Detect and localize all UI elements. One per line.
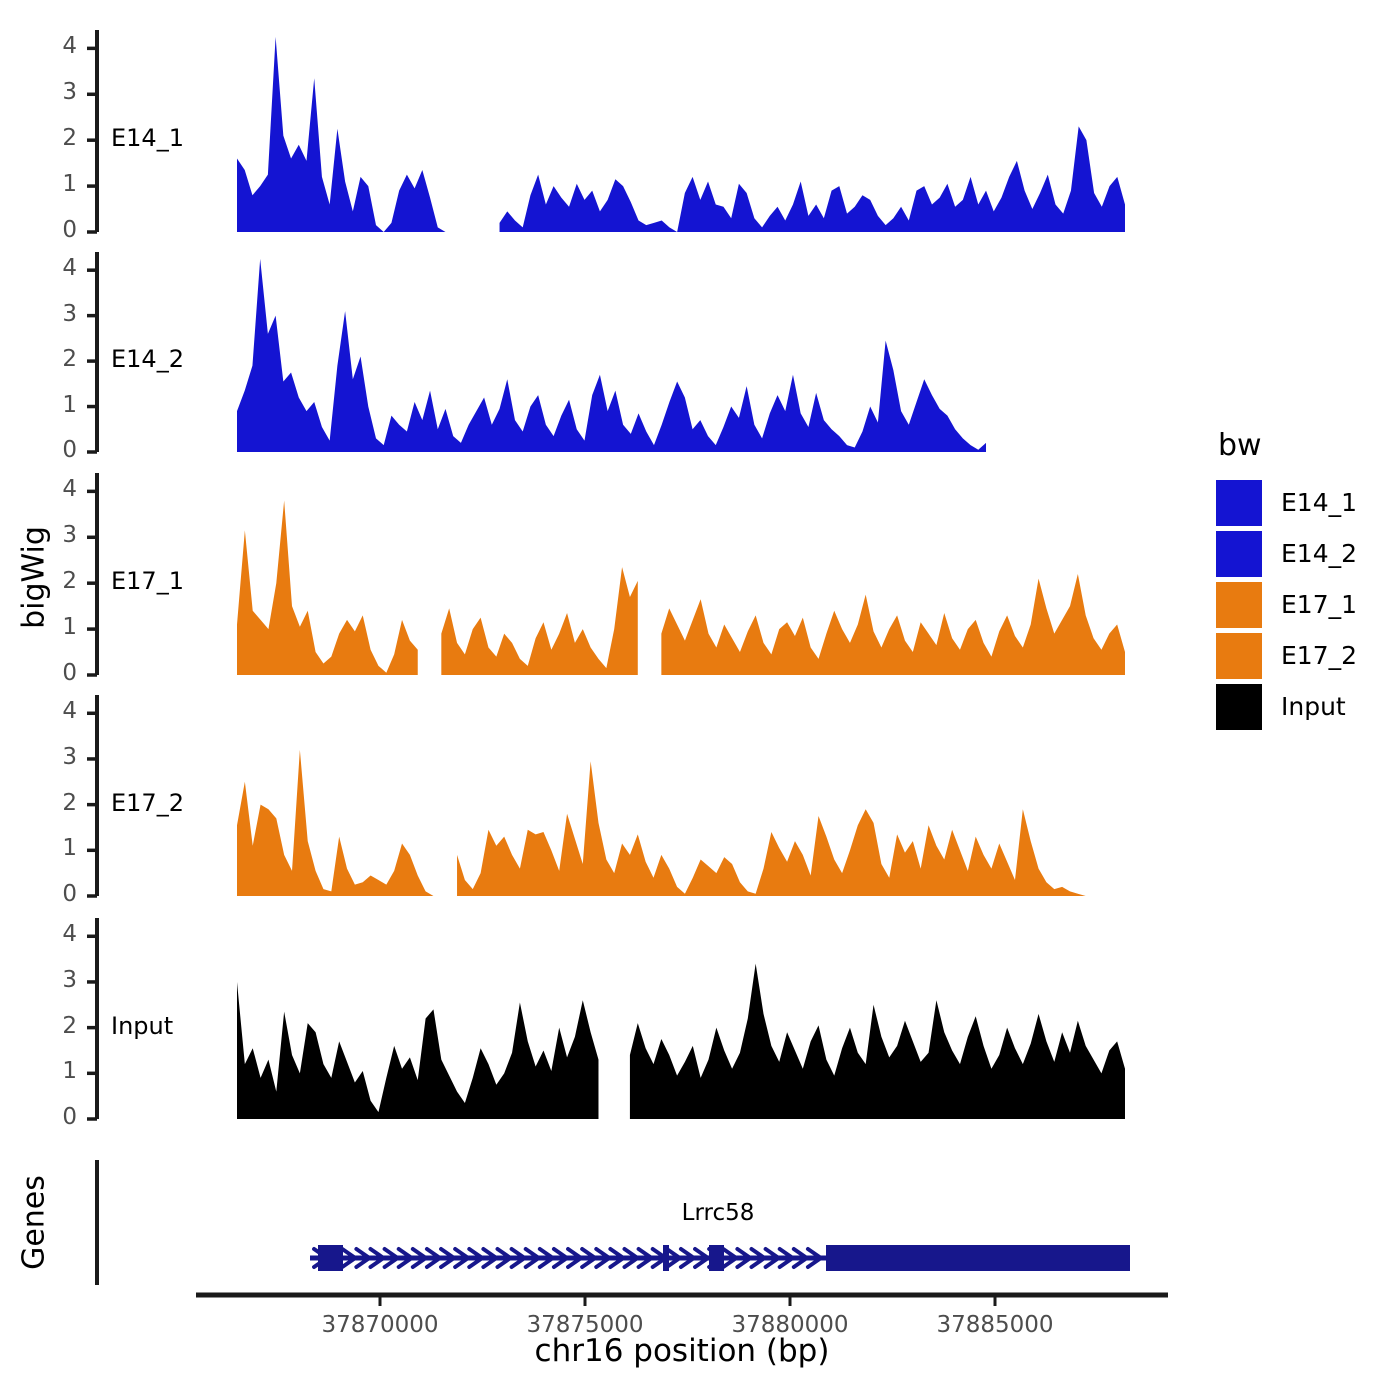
gene-exon-3 (709, 1245, 724, 1271)
gene-name-label: Lrrc58 (658, 1200, 778, 1226)
bigwig-area-E17_1 (661, 574, 1125, 675)
y-tick-label: 2 (25, 1013, 77, 1039)
genome-browser-plot: bigWig Genes 0123401234012340123401234 E… (0, 0, 1400, 1400)
y-tick-label: 4 (25, 33, 77, 59)
gene-exon-2 (663, 1245, 669, 1271)
y-tick-label: 0 (25, 437, 77, 463)
bigwig-area-Input (630, 964, 1125, 1119)
y-tick-label: 3 (25, 522, 77, 548)
track-label-E14_2: E14_2 (111, 345, 184, 373)
legend-title: bw (1218, 428, 1357, 463)
bigwig-area-E17_2 (237, 750, 433, 896)
legend-item-group: E14_1E14_2E17_1E17_2Input (1216, 477, 1357, 732)
y-tick-label: 3 (25, 967, 77, 993)
bigwig-track-group (237, 37, 1125, 1119)
y-tick-label: 0 (25, 660, 77, 686)
track-label-E17_2: E17_2 (111, 789, 184, 817)
legend-item-Input[interactable]: Input (1216, 681, 1357, 732)
y-tick-label: 1 (25, 614, 77, 640)
legend-item-E14_2[interactable]: E14_2 (1216, 528, 1357, 579)
legend-swatch-E14_1 (1216, 480, 1262, 526)
legend-swatch-E14_2 (1216, 531, 1262, 577)
y-tick-label: 3 (25, 301, 77, 327)
y-tick-label: 0 (25, 881, 77, 907)
legend-item-E17_2[interactable]: E17_2 (1216, 630, 1357, 681)
legend-swatch-E17_2 (1216, 633, 1262, 679)
bigwig-area-E17_1 (441, 567, 637, 675)
y-tick-label: 1 (25, 171, 77, 197)
legend-label: Input (1281, 692, 1346, 721)
plot-canvas (0, 0, 1400, 1400)
gene-exon-4 (826, 1245, 1130, 1271)
gene-model-group (310, 1245, 1130, 1271)
bigwig-area-E14_1 (237, 37, 469, 232)
y-tick-label: 4 (25, 255, 77, 281)
y-tick-label: 4 (25, 698, 77, 724)
legend-swatch-Input (1216, 684, 1262, 730)
y-tick-label: 2 (25, 790, 77, 816)
legend-label: E17_2 (1281, 641, 1357, 670)
legend-swatch-E17_1 (1216, 582, 1262, 628)
y-tick-label: 1 (25, 835, 77, 861)
legend-label: E14_1 (1281, 488, 1357, 517)
y-tick-label: 1 (25, 1058, 77, 1084)
bigwig-area-E14_2 (237, 259, 986, 452)
y-tick-label: 0 (25, 217, 77, 243)
legend: bw E14_1E14_2E17_1E17_2Input (1216, 428, 1357, 732)
bigwig-area-E17_2 (457, 761, 1125, 896)
gene-exon-1 (318, 1245, 343, 1271)
track-label-E14_1: E14_1 (111, 124, 184, 152)
x-axis-title: chr16 position (bp) (196, 1333, 1168, 1369)
y-tick-label: 2 (25, 568, 77, 594)
y-tick-label: 4 (25, 921, 77, 947)
y-tick-label: 3 (25, 79, 77, 105)
y-tick-label: 2 (25, 125, 77, 151)
legend-label: E17_1 (1281, 590, 1357, 619)
y-tick-label: 3 (25, 744, 77, 770)
track-label-Input: Input (111, 1012, 173, 1040)
y-tick-label: 1 (25, 392, 77, 418)
y-tick-label: 4 (25, 476, 77, 502)
bigwig-area-E17_1 (237, 501, 418, 675)
legend-label: E14_2 (1281, 539, 1357, 568)
y-tick-label: 0 (25, 1104, 77, 1130)
legend-item-E14_1[interactable]: E14_1 (1216, 477, 1357, 528)
legend-item-E17_1[interactable]: E17_1 (1216, 579, 1357, 630)
track-label-E17_1: E17_1 (111, 567, 184, 595)
y-tick-label: 2 (25, 346, 77, 372)
bigwig-area-E14_1 (500, 126, 1125, 232)
bigwig-area-Input (237, 982, 598, 1119)
